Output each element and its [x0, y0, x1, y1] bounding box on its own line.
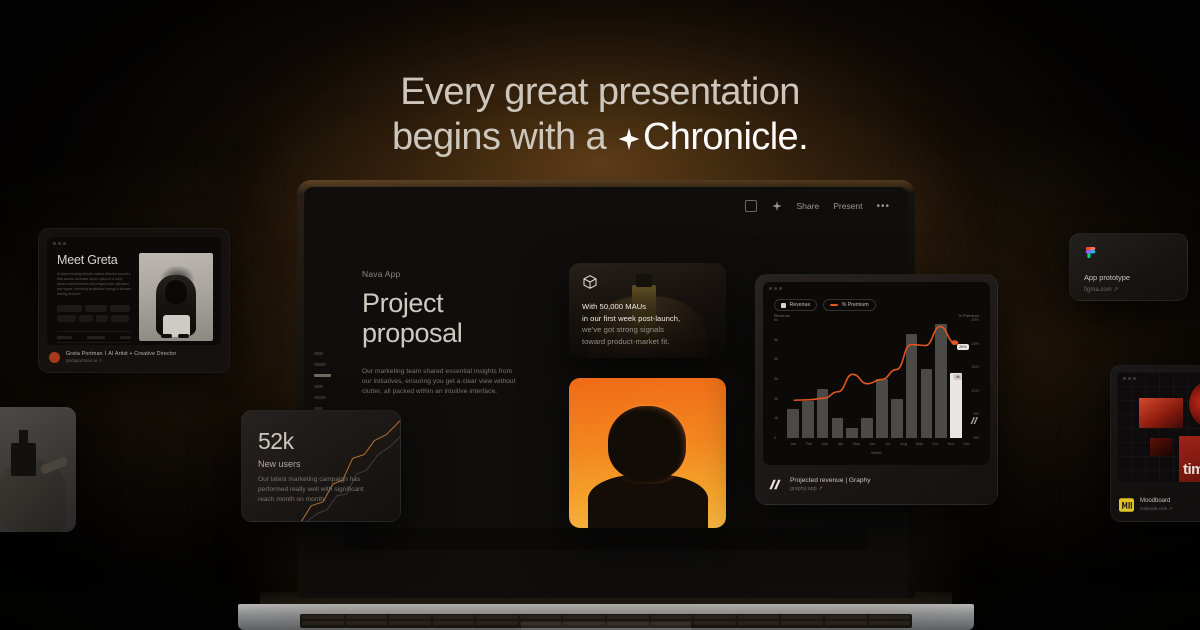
- x-tick: Oct: [929, 442, 942, 446]
- y-tick: 4k: [774, 357, 778, 361]
- legend-swatch-icon: [781, 303, 786, 308]
- users-value: 52k: [258, 428, 294, 455]
- window-dots-icon: [1123, 377, 1136, 380]
- slide-title: Project proposal: [362, 288, 502, 348]
- x-tick: Feb: [803, 442, 816, 446]
- y-tick: 3k: [774, 377, 778, 381]
- brand-name: Chronicle.: [643, 116, 808, 158]
- greta-tag: [57, 315, 76, 322]
- slide-title-line-1: Project: [362, 288, 502, 318]
- maus-text: With 50,000 MAUs in our first week post-…: [582, 301, 715, 347]
- y2-tick: 20%: [971, 342, 979, 346]
- moodboard-url[interactable]: milanote.com ↗: [1140, 506, 1172, 512]
- cube-icon: [582, 274, 598, 290]
- card-perfume-photo[interactable]: [0, 407, 76, 532]
- headline-line-2: begins with a Chronicle.: [0, 117, 1200, 158]
- legend-line-icon: [830, 304, 838, 305]
- greta-tag: [57, 305, 82, 312]
- sparkle-icon: [616, 120, 642, 146]
- moodboard-tile: [1150, 438, 1172, 456]
- layout-icon[interactable]: [745, 200, 757, 212]
- greta-heading: Meet Greta: [57, 253, 131, 267]
- maus-line-2: in our first week post-launch,: [582, 313, 715, 325]
- share-button[interactable]: Share: [797, 201, 820, 211]
- moodboard-tile: timl: [1179, 436, 1200, 482]
- maus-line-4: toward product-market fit.: [582, 336, 715, 348]
- hero-headline: Every great presentation begins with a C…: [0, 72, 1200, 158]
- y2-tick: 15%: [971, 365, 979, 369]
- graphy-logo-icon: [969, 412, 980, 421]
- premium-line-series: [787, 320, 962, 438]
- legend-label: Revenue: [790, 302, 811, 308]
- greta-tag: [85, 305, 107, 312]
- table-row: [57, 342, 131, 345]
- tooltip-premium: 20%: [957, 344, 969, 350]
- greta-tag: [96, 315, 108, 322]
- users-paragraph: Our latest marketing campaign has perfor…: [258, 475, 380, 505]
- greta-tag: [79, 315, 93, 322]
- x-tick: Nov: [945, 442, 958, 446]
- x-tick: Sept: [913, 442, 926, 446]
- greta-table: [57, 331, 131, 345]
- card-portrait-photo[interactable]: [569, 378, 726, 528]
- moodboard-title: Moodboard: [1140, 498, 1172, 504]
- x-tick: Apr: [834, 442, 847, 446]
- card-app-prototype[interactable]: App prototype figma.com ↗: [1069, 233, 1188, 301]
- legend-item-premium[interactable]: % Premium: [823, 299, 875, 311]
- chart-caption: Projected revenue | Graphy graphy.app ↗: [768, 477, 871, 492]
- x-tick: Mar: [819, 442, 832, 446]
- card-maus[interactable]: With 50,000 MAUs in our first week post-…: [569, 263, 726, 358]
- table-row: [57, 331, 131, 342]
- y2-tick: 0%: [974, 436, 980, 440]
- x-axis-label: Month: [763, 451, 990, 455]
- rail-item[interactable]: [314, 363, 326, 366]
- laptop-deck: [238, 604, 974, 630]
- window-dots-icon: [53, 242, 66, 245]
- greta-figure: [156, 275, 196, 337]
- moodboard-tile-text: timl: [1183, 461, 1200, 478]
- y-tick: 2k: [774, 397, 778, 401]
- window-dots-icon: [769, 287, 782, 290]
- x-tick: May: [850, 442, 863, 446]
- x-tick: Jul: [882, 442, 895, 446]
- headline-prefix: begins with a: [392, 116, 606, 158]
- card-moodboard[interactable]: timl Moodboard milanote.com ↗: [1110, 365, 1200, 522]
- rail-item[interactable]: [314, 352, 323, 355]
- greta-tag: [111, 315, 129, 322]
- chart-plot-area: 0 1k 2k 3k 4k 5k 6k 0% 5% 10% 15% 20% 25…: [774, 320, 979, 438]
- card-meet-greta[interactable]: Meet Greta AI-based strategy blends crea…: [38, 228, 230, 373]
- y-tick: 5k: [774, 338, 778, 342]
- slide-title-line-2: proposal: [362, 318, 502, 348]
- maus-line-3: we've got strong signals: [582, 324, 715, 336]
- greta-tag: [110, 305, 130, 312]
- greta-window: Meet Greta AI-based strategy blends crea…: [47, 237, 221, 345]
- milanote-logo-icon: [1119, 498, 1134, 512]
- trackpad: [521, 622, 691, 630]
- rail-item-active[interactable]: [314, 374, 331, 377]
- chart-x-labels: JanFebMarAprMayJunJulAugSeptOctNovDec: [787, 442, 973, 446]
- y-tick: 6k: [774, 318, 778, 322]
- slide-footer-bar: [344, 528, 868, 550]
- x-tick: Jan: [787, 442, 800, 446]
- app-toolbar: Share Present •••: [304, 187, 908, 225]
- chart-legend[interactable]: Revenue % Premium: [774, 299, 876, 311]
- moodboard-caption: Moodboard milanote.com ↗: [1119, 498, 1172, 512]
- legend-item-revenue[interactable]: Revenue: [774, 299, 817, 311]
- card-new-users[interactable]: 52k New users Our latest marketing campa…: [241, 410, 401, 522]
- legend-label: % Premium: [842, 302, 869, 308]
- headline-line-1: Every great presentation: [0, 72, 1200, 113]
- y-tick: 1k: [774, 416, 778, 420]
- figma-logo-icon: [1084, 247, 1097, 266]
- card-projected-revenue[interactable]: Revenue % Premium Revenue % Premium 0 1k…: [755, 274, 998, 505]
- graphy-logo-icon: [768, 478, 783, 491]
- silhouette-figure: [592, 400, 704, 528]
- tooltip-revenue: 4k: [953, 374, 962, 380]
- avatar: [49, 352, 60, 363]
- sparkle-icon[interactable]: [771, 200, 783, 212]
- users-label: New users: [258, 459, 301, 469]
- chart-caption-url[interactable]: graphy.app ↗: [790, 486, 871, 492]
- greta-body-text: AI-based strategy blends creative direct…: [57, 272, 131, 297]
- greta-photo: [139, 253, 213, 341]
- greta-caption: Greta Portman ⌇ AI Artist + Creative Dir…: [49, 351, 221, 365]
- y2-tick: 10%: [971, 389, 979, 393]
- y-tick: 0: [774, 436, 776, 440]
- figma-title: App prototype: [1084, 273, 1130, 282]
- moodboard-tile: [1139, 398, 1183, 428]
- present-button[interactable]: Present: [833, 201, 862, 211]
- y2-tick: 25%: [971, 318, 979, 322]
- bottle-cap-shape: [19, 430, 28, 444]
- greta-caption-url[interactable]: gretaportman.ai ↗: [66, 358, 176, 364]
- bottle-shape: [11, 443, 36, 476]
- chart-window: Revenue % Premium Revenue % Premium 0 1k…: [763, 282, 990, 465]
- more-options-button[interactable]: •••: [876, 201, 890, 212]
- chart-caption-title: Projected revenue | Graphy: [790, 477, 871, 484]
- greta-caption-title: Greta Portman ⌇ AI Artist + Creative Dir…: [66, 351, 176, 357]
- slide-paragraph: Our marketing team shared essential insi…: [362, 367, 520, 397]
- moodboard-window: timl: [1117, 372, 1200, 482]
- x-tick: Dec: [960, 442, 973, 446]
- x-tick: Aug: [897, 442, 910, 446]
- rail-item[interactable]: [314, 396, 326, 399]
- greta-tag-row: [57, 305, 131, 322]
- figma-url[interactable]: figma.com ↗: [1084, 286, 1118, 293]
- maus-line-1: With 50,000 MAUs: [582, 301, 715, 313]
- x-tick: Jun: [866, 442, 879, 446]
- rail-item[interactable]: [314, 385, 323, 388]
